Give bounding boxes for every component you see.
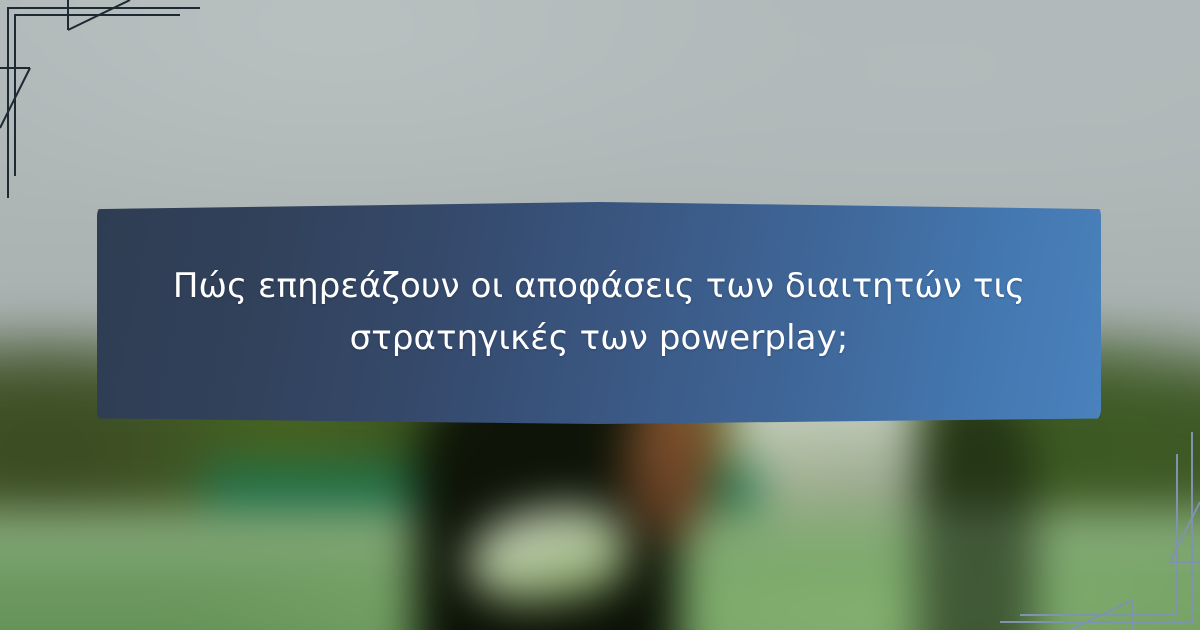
- headline-banner: Πώς επηρεάζουν οι αποφάσεις των διαιτητώ…: [97, 202, 1101, 424]
- page-title: Πώς επηρεάζουν οι αποφάσεις των διαιτητώ…: [167, 261, 1030, 364]
- background-person-secondary: [917, 390, 1036, 630]
- share-card-canvas: Πώς επηρεάζουν οι αποφάσεις των διαιτητώ…: [0, 0, 1200, 630]
- headline-banner-inner: Πώς επηρεάζουν οι αποφάσεις των διαιτητώ…: [167, 261, 1030, 364]
